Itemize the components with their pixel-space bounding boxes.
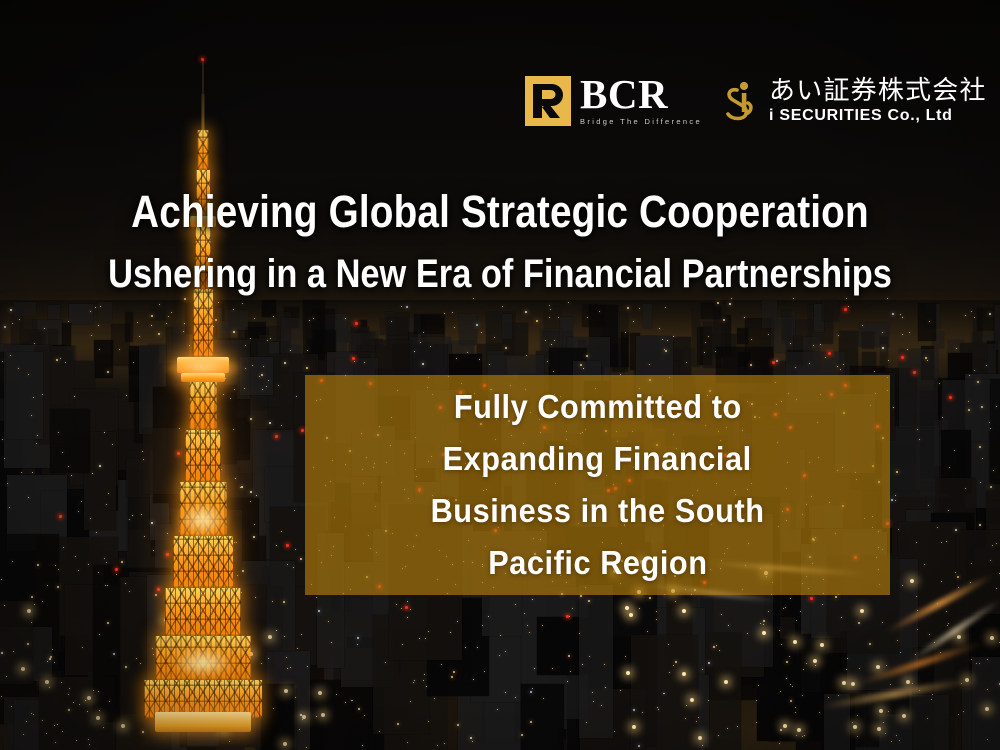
- isecurities-name-jp: あい証券株式会社: [769, 77, 987, 105]
- street-lamp: [990, 636, 994, 640]
- street-lamp: [851, 682, 855, 686]
- panel-line: Business in the South: [430, 486, 764, 536]
- building: [692, 308, 700, 367]
- building: [93, 565, 120, 722]
- street-lamp: [625, 606, 629, 610]
- street-lamp: [860, 609, 864, 613]
- i-securities-swirl-icon: [720, 76, 760, 126]
- street-lamp: [302, 715, 306, 719]
- rooftop-beacon: [355, 322, 358, 325]
- street-lamp: [626, 671, 630, 675]
- street-lamp: [783, 724, 787, 728]
- street-lamp: [682, 672, 686, 676]
- bcr-logo[interactable]: BCR Bridge The Difference: [525, 76, 702, 126]
- street-lamp: [632, 725, 636, 729]
- street-lamp: [853, 725, 857, 729]
- street-lamp: [698, 736, 702, 740]
- building: [48, 305, 60, 319]
- street-lamp: [820, 643, 824, 647]
- building: [380, 318, 407, 335]
- building: [899, 349, 938, 427]
- building: [918, 303, 936, 341]
- building: [361, 332, 375, 351]
- isecurities-name-en: i SECURITIES Co., Ltd: [769, 107, 987, 125]
- bcr-tagline: Bridge The Difference: [580, 117, 702, 126]
- building: [762, 300, 777, 328]
- bcr-wordmark: BCR: [580, 76, 702, 114]
- street-lamp: [121, 724, 125, 728]
- street-lamp: [906, 680, 910, 684]
- headline: Achieving Global Strategic Cooperation: [70, 186, 930, 238]
- bcr-monogram-icon: [525, 76, 571, 126]
- panel-line: Expanding Financial: [443, 434, 752, 484]
- subheadline: Ushering in a New Era of Financial Partn…: [70, 252, 930, 297]
- building: [6, 352, 43, 439]
- building: [990, 379, 1000, 484]
- building: [502, 314, 512, 339]
- rooftop-beacon: [59, 515, 62, 518]
- building: [621, 332, 629, 367]
- street-lamp: [879, 709, 883, 713]
- street-lamp: [902, 714, 906, 718]
- street-lamp: [877, 727, 881, 731]
- panel-line: Pacific Region: [488, 538, 707, 588]
- rooftop-beacon: [913, 371, 916, 374]
- isecurities-logo[interactable]: あい証券株式会社 i SECURITIES Co., Ltd: [720, 76, 987, 126]
- street-lamp: [690, 698, 694, 702]
- street-lamp: [813, 659, 817, 663]
- street-lamp: [682, 609, 686, 613]
- street-lamp: [957, 635, 961, 639]
- building: [50, 409, 90, 473]
- street-lamp: [876, 665, 880, 669]
- building: [0, 601, 33, 684]
- building: [98, 302, 112, 322]
- street-lamp: [629, 613, 633, 617]
- street-lamp: [27, 609, 31, 613]
- building: [822, 300, 839, 321]
- rooftop-beacon: [566, 615, 569, 618]
- street-lamp: [283, 742, 287, 746]
- promotional-banner: BCR Bridge The Difference あい証券株式会社 i SEC…: [0, 0, 1000, 750]
- rooftop-beacon: [901, 356, 904, 359]
- street-lamp: [985, 707, 989, 711]
- street-lamp: [45, 680, 49, 684]
- building: [972, 657, 1000, 750]
- building: [995, 305, 1000, 350]
- rooftop-beacon: [949, 396, 952, 399]
- rooftop-beacon: [810, 597, 813, 600]
- building: [94, 340, 113, 378]
- street-lamp: [96, 716, 100, 720]
- street-lamp: [321, 713, 325, 717]
- street-lamp: [724, 680, 728, 684]
- rooftop-beacon: [828, 352, 831, 355]
- tokyo-tower: [128, 60, 278, 750]
- rooftop-beacon: [405, 606, 408, 609]
- rooftop-beacon: [772, 361, 775, 364]
- building: [977, 308, 994, 331]
- building: [701, 303, 721, 319]
- building: [631, 635, 698, 750]
- rooftop-beacon: [286, 544, 289, 547]
- logo-bar: BCR Bridge The Difference あい証券株式会社 i SEC…: [525, 70, 987, 132]
- building: [521, 684, 564, 750]
- building: [643, 304, 652, 328]
- building: [14, 302, 36, 316]
- building: [579, 585, 613, 738]
- building: [62, 323, 71, 347]
- rooftop-beacon: [844, 308, 847, 311]
- panel-text-block: Fully Committed to Expanding Financial B…: [305, 375, 890, 595]
- street-lamp: [797, 728, 801, 732]
- street-lamp: [21, 667, 25, 671]
- building: [69, 304, 93, 324]
- street-lamp: [762, 631, 766, 635]
- panel-line: Fully Committed to: [454, 382, 742, 432]
- street-lamp: [910, 579, 914, 583]
- building: [862, 332, 874, 349]
- street-lamp: [842, 681, 846, 685]
- rooftop-beacon: [352, 357, 355, 360]
- rooftop-beacon: [301, 429, 304, 432]
- rooftop-beacon: [115, 568, 118, 571]
- street-lamp: [318, 691, 322, 695]
- building: [737, 328, 748, 344]
- street-lamp: [793, 640, 797, 644]
- street-lamp: [87, 696, 91, 700]
- street-lamp: [284, 689, 288, 693]
